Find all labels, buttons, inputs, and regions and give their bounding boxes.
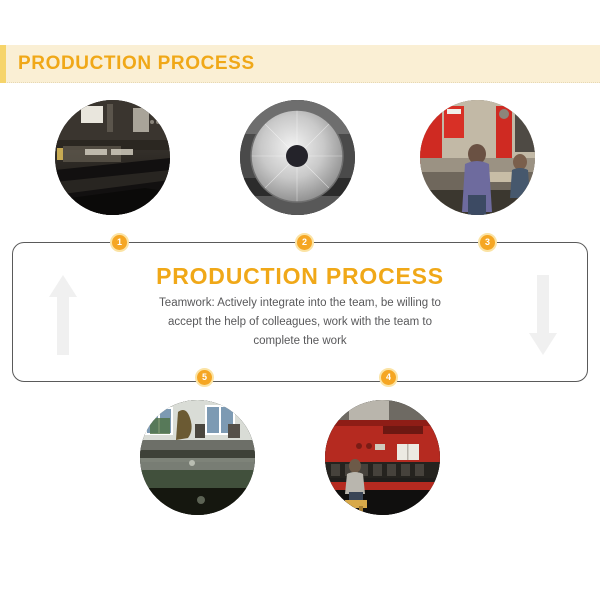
page-title: PRODUCTION PROCESS (18, 45, 255, 83)
panel-title: PRODUCTION PROCESS (0, 263, 600, 290)
page-header-band: PRODUCTION PROCESS (0, 45, 600, 83)
process-photo-3[interactable] (420, 100, 535, 215)
panel-description: Teamwork: Actively integrate into the te… (150, 294, 450, 351)
process-photo-5[interactable] (140, 400, 255, 515)
step-badge-2[interactable]: 2 (295, 233, 314, 252)
step-badge-1[interactable]: 1 (110, 233, 129, 252)
process-photo-1[interactable] (55, 100, 170, 215)
step-badge-5[interactable]: 5 (195, 368, 214, 387)
process-photo-2[interactable] (240, 100, 355, 215)
step-badge-4[interactable]: 4 (379, 368, 398, 387)
step-badge-3[interactable]: 3 (478, 233, 497, 252)
header-accent-bar (0, 45, 6, 83)
process-photo-4[interactable] (325, 400, 440, 515)
